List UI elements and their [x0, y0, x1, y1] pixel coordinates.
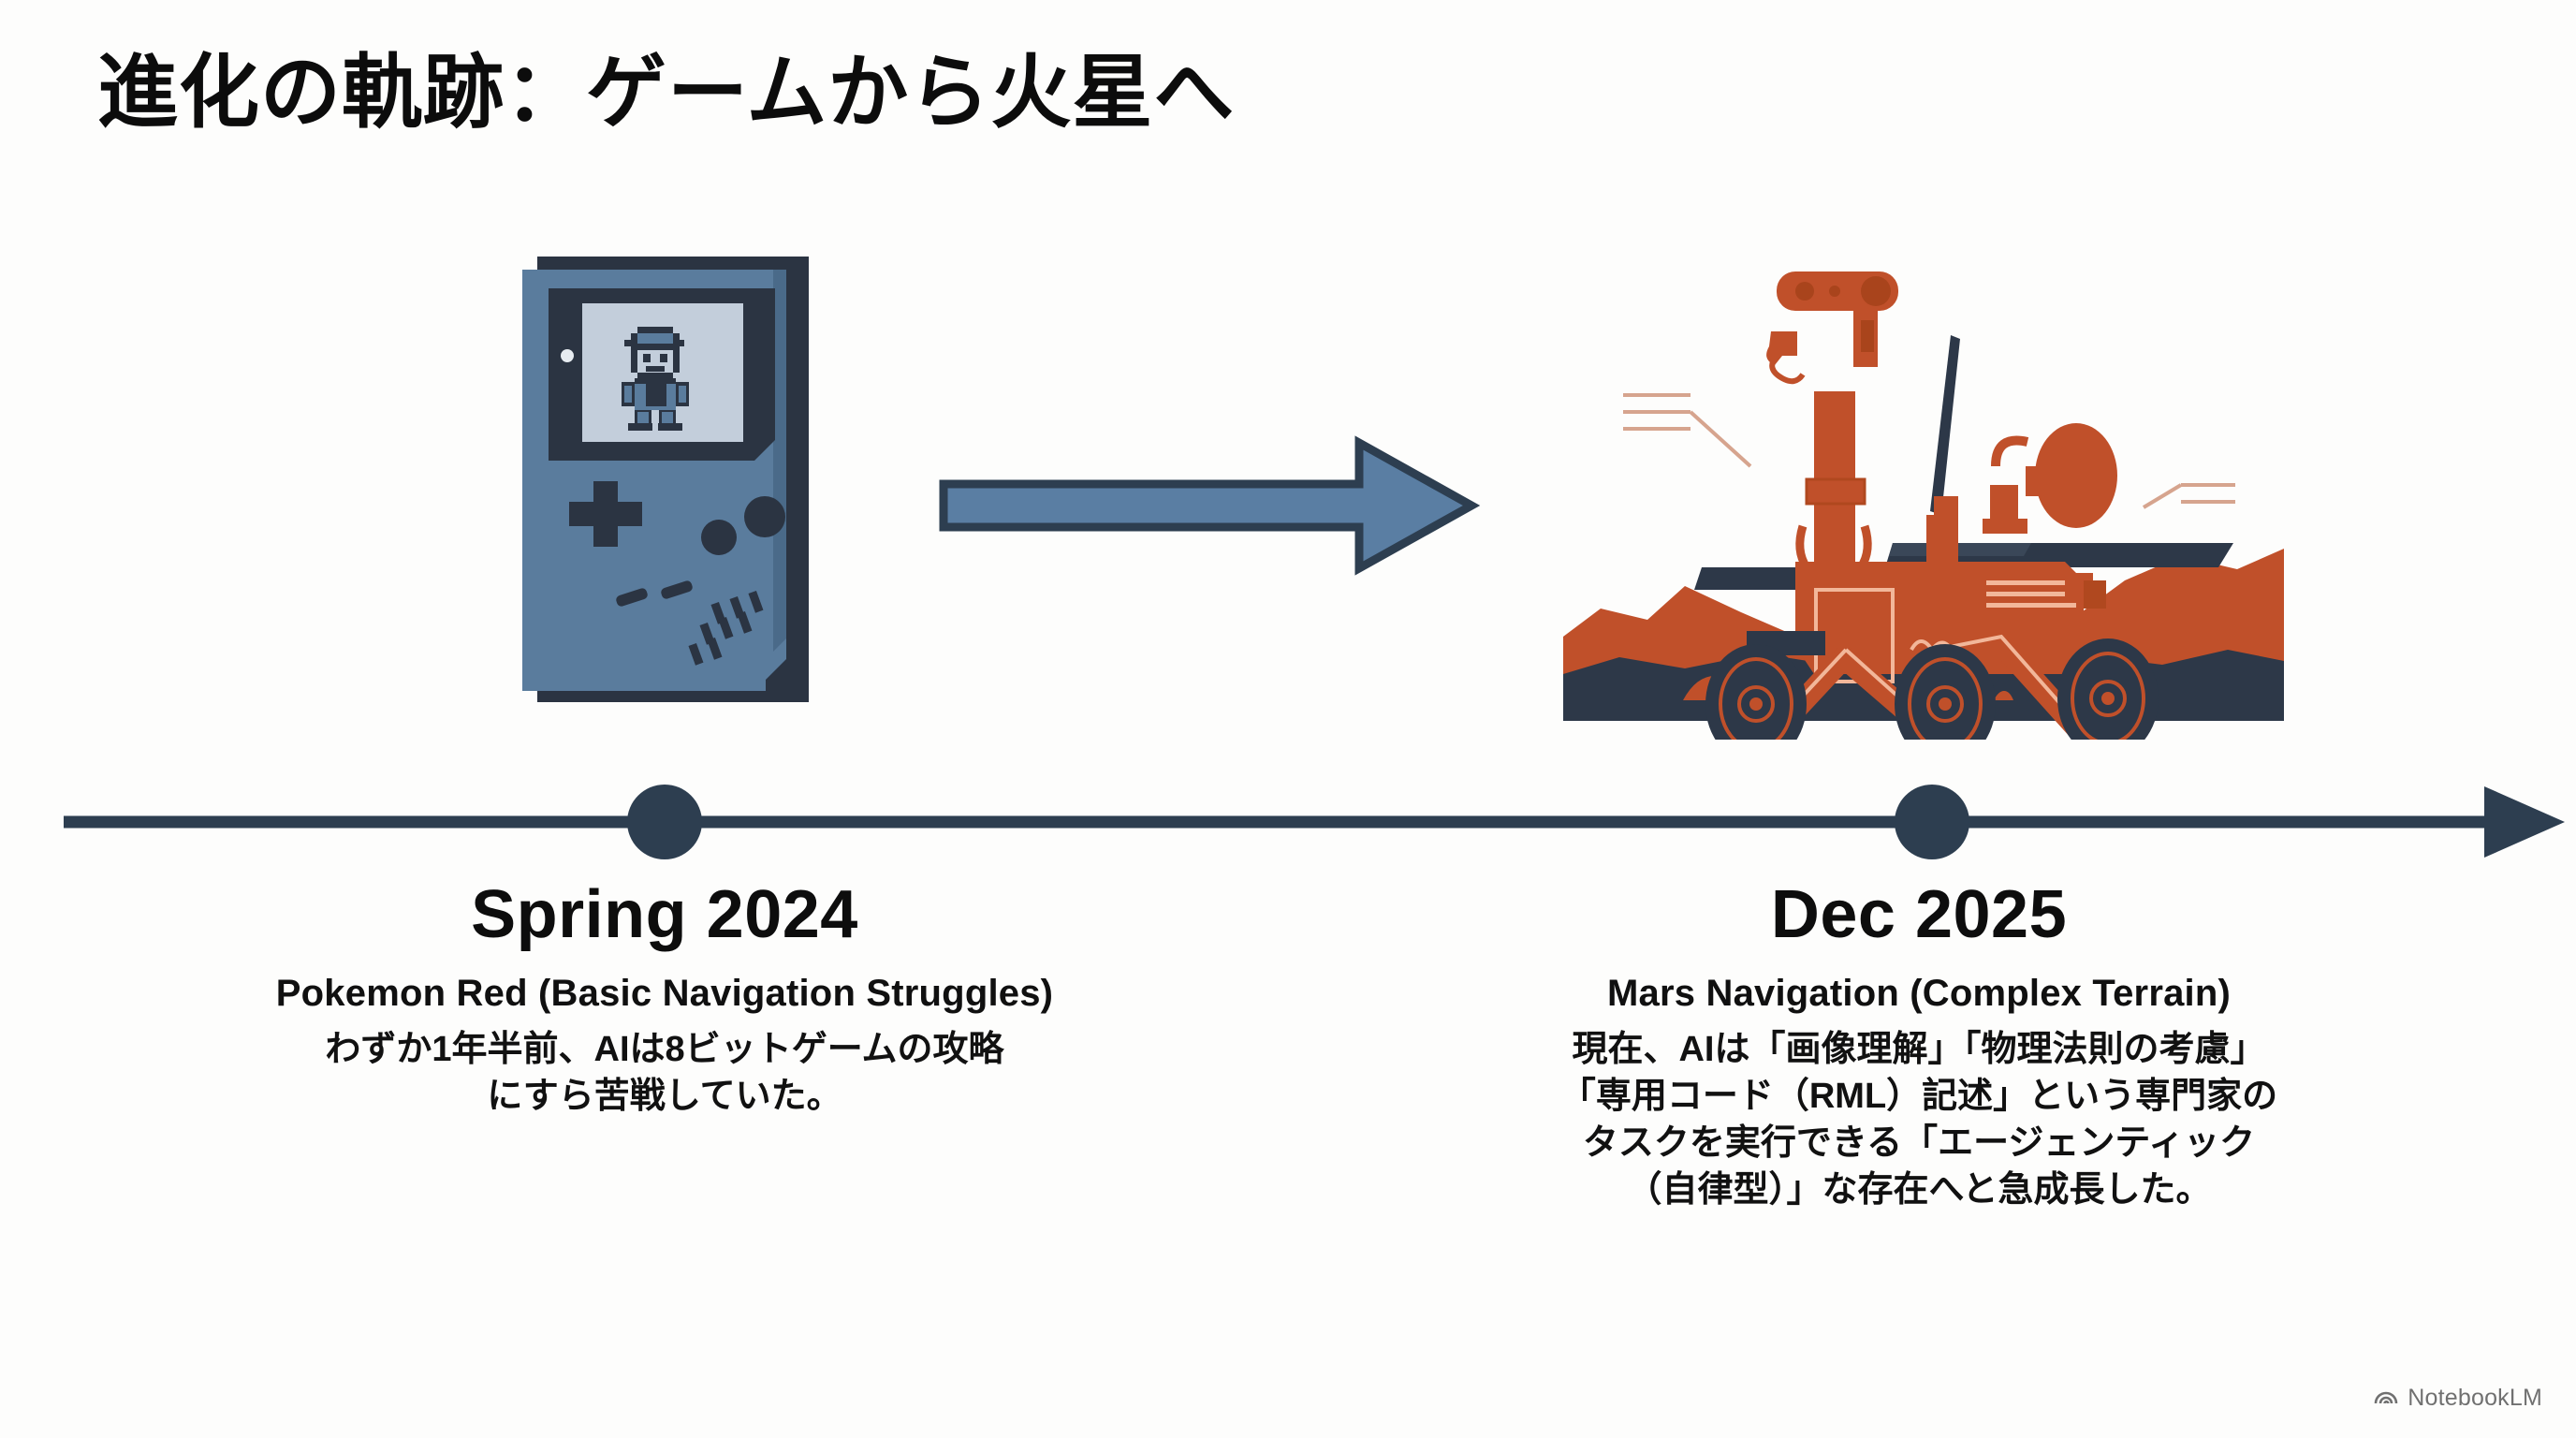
- timeline-axis: [0, 768, 2576, 880]
- milestone-subtitle-left: Pokemon Red (Basic Navigation Struggles): [37, 972, 1292, 1015]
- milestone-body-line: 現在、AIは「画像理解」「物理法則の考慮」: [1310, 1026, 2527, 1073]
- game-boy-svg: [505, 236, 824, 723]
- timeline-svg: [0, 768, 2576, 880]
- mars-rover-illustration: [1563, 234, 2284, 740]
- game-boy-illustration: [505, 236, 824, 723]
- milestone-body-line: 「専用コード（RML）記述」という専門家の: [1310, 1073, 2527, 1120]
- milestone-body-line: にすら苦戦していた。: [37, 1073, 1292, 1120]
- milestone-body-line: （自律型）」な存在へと急成長した。: [1310, 1167, 2527, 1213]
- notebooklm-label: NotebookLM: [2408, 1385, 2542, 1412]
- milestone-block-right: Dec 2025 Mars Navigation (Complex Terrai…: [1310, 880, 2527, 1213]
- milestone-body-right: 現在、AIは「画像理解」「物理法則の考慮」 「専用コード（RML）記述」という専…: [1310, 1026, 2527, 1214]
- milestone-body-line: タスクを実行できる「エージェンティック: [1310, 1120, 2527, 1167]
- timeline-marker-dot[interactable]: [1895, 785, 1969, 859]
- progression-arrow-svg: [927, 435, 1488, 576]
- milestone-block-left: Spring 2024 Pokemon Red (Basic Navigatio…: [37, 880, 1292, 1120]
- progression-arrow: [927, 435, 1488, 576]
- milestone-body-left: わずか1年半前、AIは8ビットゲームの攻略 にすら苦戦していた。: [37, 1026, 1292, 1120]
- milestone-subtitle-right: Mars Navigation (Complex Terrain): [1310, 972, 2527, 1015]
- mars-rover-svg: [1563, 234, 2284, 740]
- milestone-date-right: Dec 2025: [1310, 880, 2527, 951]
- timeline-marker-dot[interactable]: [627, 785, 702, 859]
- timeline-arrowhead-icon: [2484, 786, 2565, 858]
- notebooklm-watermark: NotebookLM: [2373, 1383, 2542, 1414]
- page-title: 進化の軌跡：ゲームから火星へ: [97, 26, 1235, 143]
- notebooklm-spiral-icon: [2373, 1383, 2399, 1414]
- milestone-date-left: Spring 2024: [37, 880, 1292, 951]
- milestone-body-line: わずか1年半前、AIは8ビットゲームの攻略: [37, 1026, 1292, 1073]
